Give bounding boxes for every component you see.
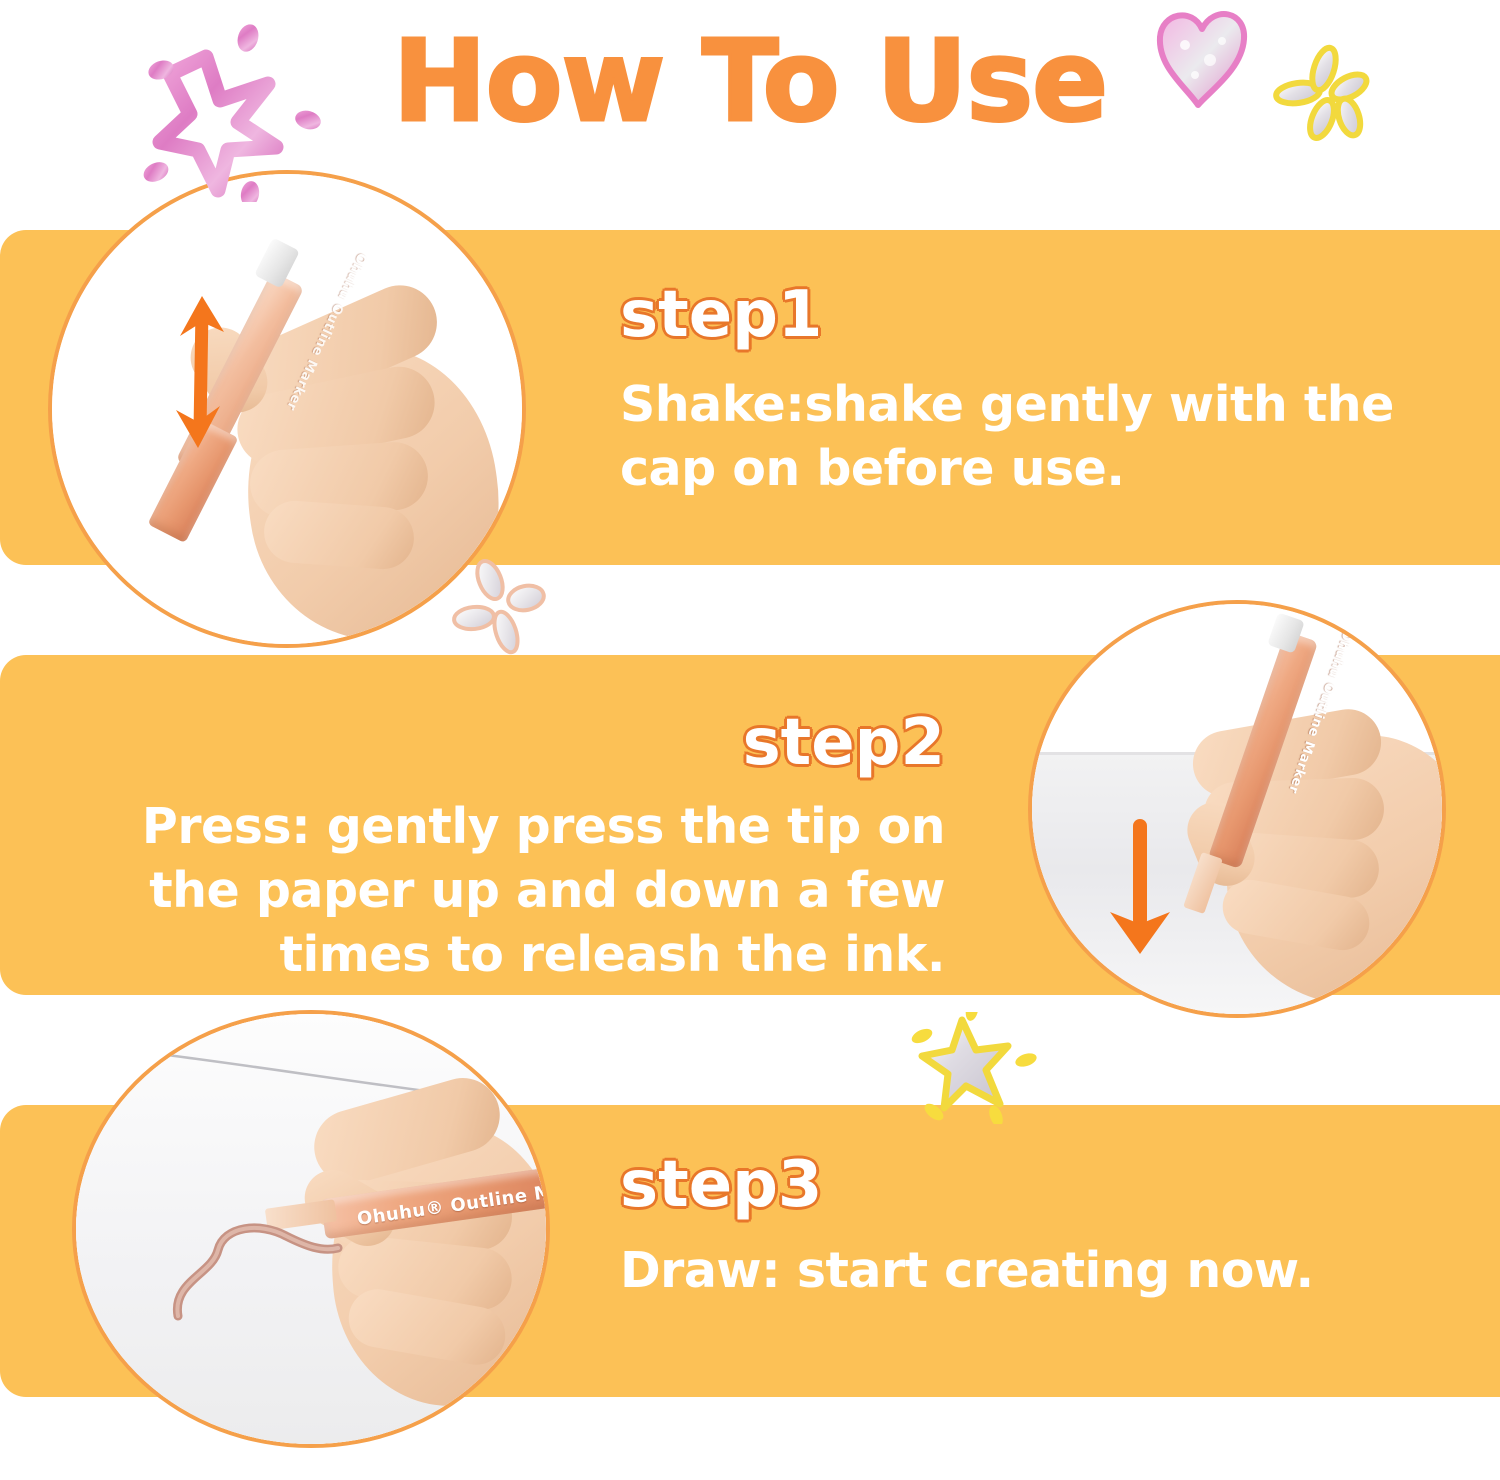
pen-cap-top bbox=[254, 237, 300, 288]
up-down-arrow-icon bbox=[128, 282, 248, 462]
step1-body: Shake:shake gently with the cap on befor… bbox=[620, 373, 1460, 500]
infographic-page: How To Use bbox=[0, 0, 1500, 1480]
step2-body: Press: gently press the tip on the paper… bbox=[95, 795, 945, 986]
glitter-star-yellow-icon bbox=[900, 1012, 1060, 1124]
step3-photo: Ohuhu® Outline Marke bbox=[76, 1014, 546, 1444]
step3-photo-circle: Ohuhu® Outline Marke bbox=[72, 1010, 550, 1448]
glitter-star-yellow-decoration bbox=[900, 1012, 1060, 1124]
step2-body-line: the paper up and down a few bbox=[95, 859, 945, 923]
marker-pen: Ohuhu Outline Marker bbox=[1160, 612, 1360, 962]
step2-label: step2 bbox=[95, 710, 945, 777]
glitter-beads-icon bbox=[436, 556, 616, 666]
glitter-flower-yellow-icon bbox=[1250, 35, 1370, 145]
drawn-squiggle bbox=[156, 1204, 376, 1344]
step3-body-line: Draw: start creating now. bbox=[620, 1239, 1460, 1303]
step1-label: step1 bbox=[620, 282, 1460, 349]
glitter-flower-yellow-decoration bbox=[1250, 35, 1370, 145]
pen-label: Ohuhu Outline Marker bbox=[283, 250, 369, 412]
step1-body-line: cap on before use. bbox=[620, 437, 1460, 501]
step3-text-block: step3 Draw: start creating now. bbox=[620, 1152, 1460, 1303]
down-arrow-icon bbox=[1100, 816, 1180, 966]
step1-body-line: Shake:shake gently with the bbox=[620, 373, 1460, 437]
glitter-star-pink-icon bbox=[128, 22, 348, 202]
step2-photo: Ohuhu Outline Marker bbox=[1032, 604, 1442, 1014]
step2-body-line: times to releash the ink. bbox=[95, 923, 945, 987]
step1-text-block: step1 Shake:shake gently with the cap on… bbox=[620, 282, 1460, 501]
step2-photo-circle: Ohuhu Outline Marker bbox=[1028, 600, 1446, 1018]
step3-body: Draw: start creating now. bbox=[620, 1239, 1460, 1303]
step2-body-line: Press: gently press the tip on bbox=[95, 795, 945, 859]
step3-label: step3 bbox=[620, 1152, 1460, 1219]
glitter-beads-silver-decoration bbox=[436, 556, 616, 666]
glitter-star-pink-decoration bbox=[128, 22, 348, 202]
pen-tip bbox=[1183, 852, 1223, 914]
step2-text-block: step2 Press: gently press the tip on the… bbox=[95, 710, 945, 986]
